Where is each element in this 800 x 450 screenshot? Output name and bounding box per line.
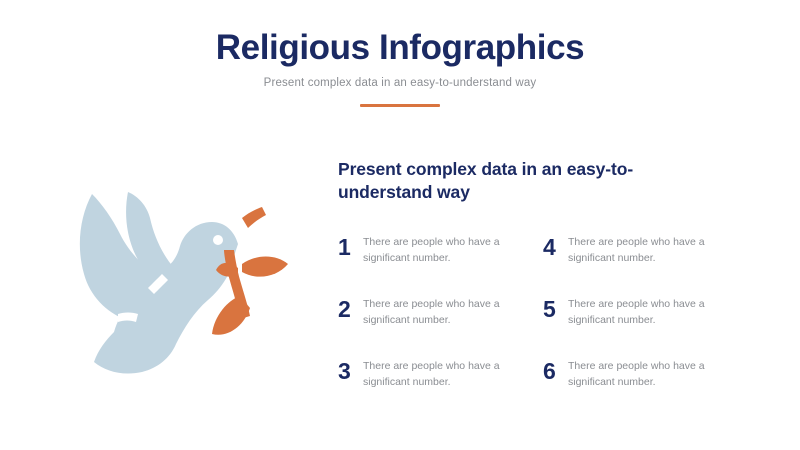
item-text: There are people who have a significant …	[363, 297, 528, 329]
list-item: 3 There are people who have a significan…	[338, 359, 538, 421]
item-number: 6	[543, 359, 557, 383]
item-text: There are people who have a significant …	[568, 359, 733, 391]
item-number: 2	[338, 297, 352, 321]
infographic-slide: Religious Infographics Present complex d…	[0, 0, 800, 450]
olive-leaf-upper	[242, 257, 288, 277]
items-grid: 1 There are people who have a significan…	[338, 235, 748, 421]
content-panel: Present complex data in an easy-to-under…	[338, 158, 748, 421]
dove-eye	[213, 235, 223, 245]
list-item: 2 There are people who have a significan…	[338, 297, 538, 359]
title-divider	[360, 104, 440, 107]
item-number: 3	[338, 359, 352, 383]
slide-header: Religious Infographics Present complex d…	[0, 28, 800, 107]
dove-body-group	[80, 192, 238, 374]
item-text: There are people who have a significant …	[363, 235, 528, 267]
item-text: There are people who have a significant …	[363, 359, 528, 391]
item-text: There are people who have a significant …	[568, 297, 733, 329]
dove-illustration	[62, 182, 302, 382]
olive-leaf-lower	[212, 296, 250, 335]
list-item: 6 There are people who have a significan…	[543, 359, 743, 421]
section-heading: Present complex data in an easy-to-under…	[338, 158, 698, 204]
page-subtitle: Present complex data in an easy-to-under…	[0, 77, 800, 89]
list-item: 1 There are people who have a significan…	[338, 235, 538, 297]
item-number: 1	[338, 235, 352, 259]
olive-twig	[242, 207, 266, 228]
page-title: Religious Infographics	[0, 28, 800, 67]
list-item: 4 There are people who have a significan…	[543, 235, 743, 297]
item-text: There are people who have a significant …	[568, 235, 733, 267]
item-number: 4	[543, 235, 557, 259]
item-number: 5	[543, 297, 557, 321]
list-item: 5 There are people who have a significan…	[543, 297, 743, 359]
